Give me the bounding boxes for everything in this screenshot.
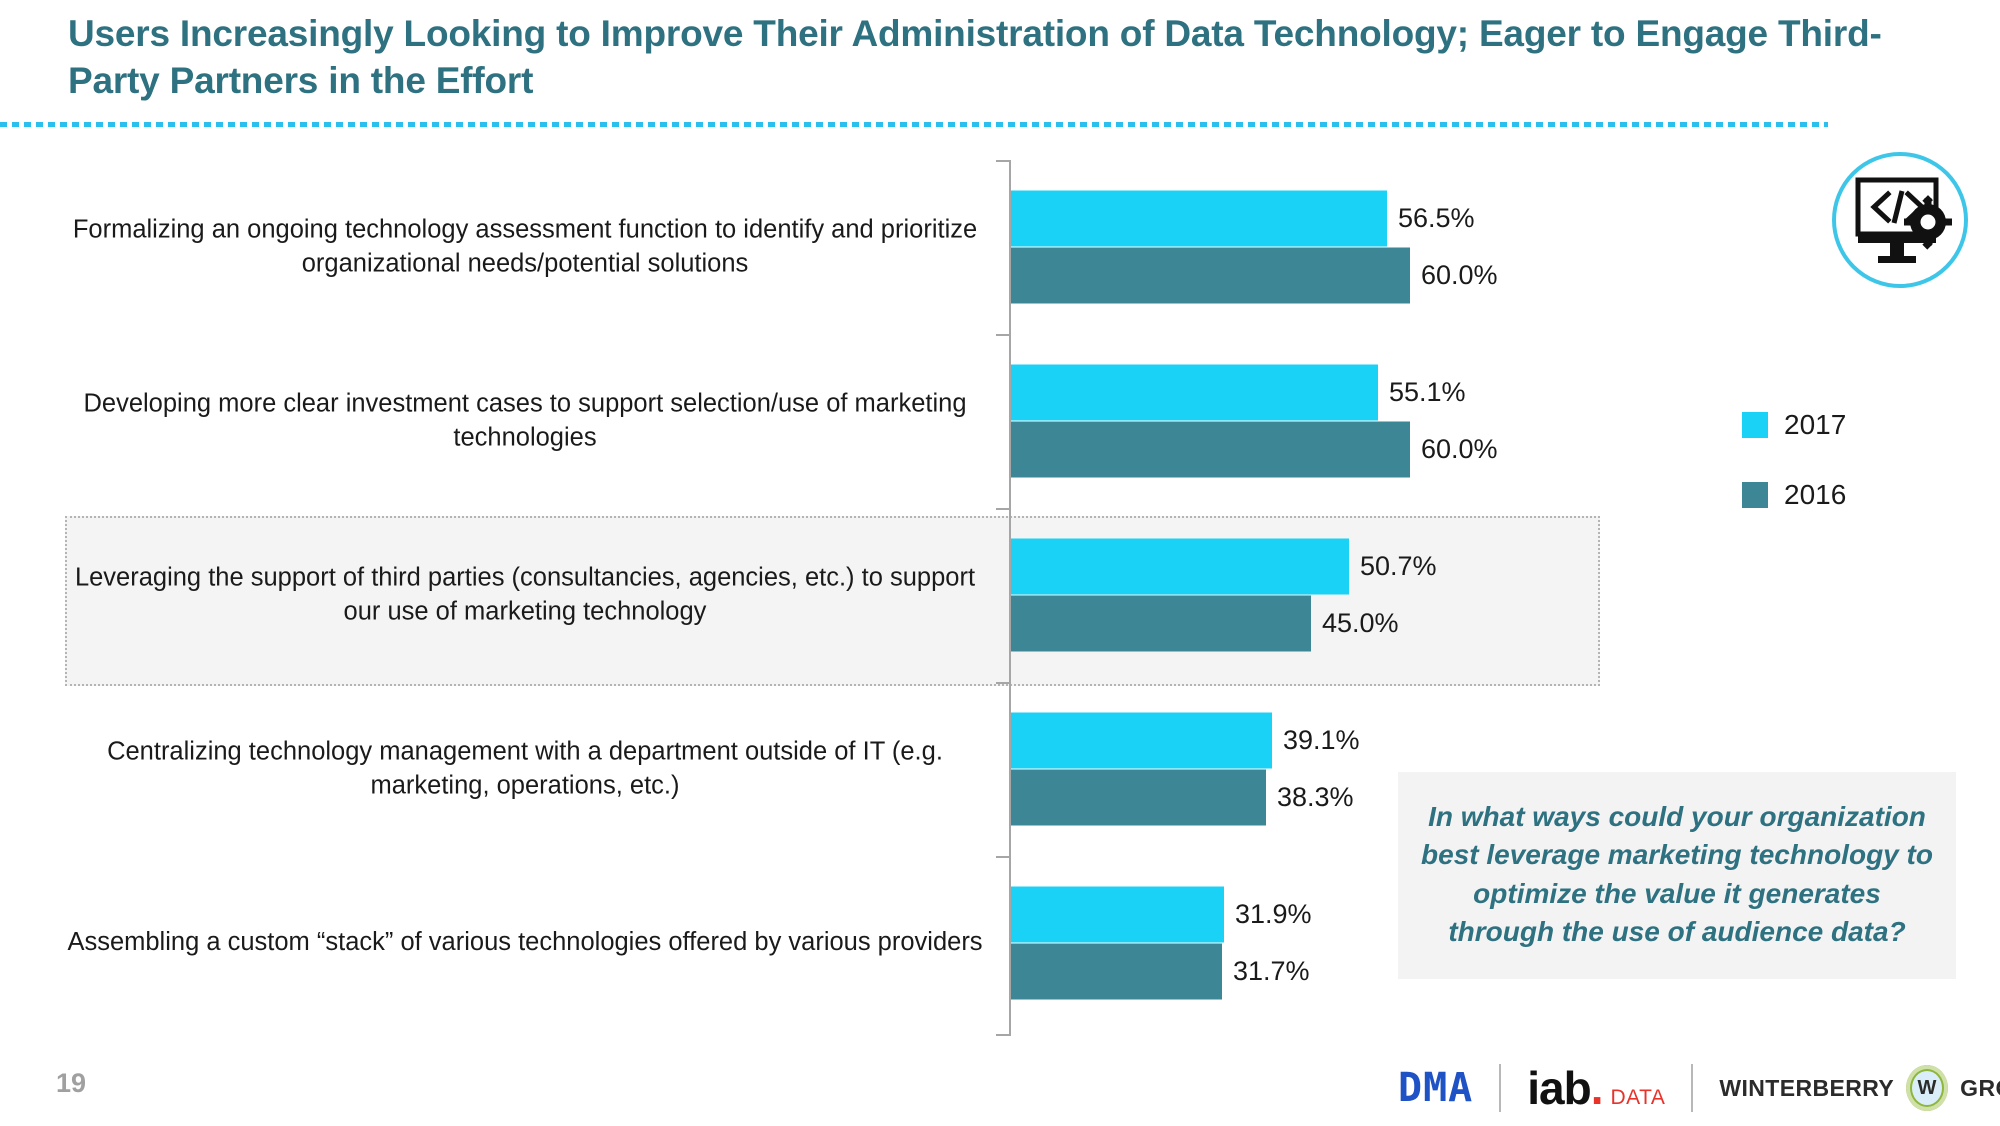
bar-value-2016: 31.7%	[1222, 956, 1310, 987]
logo-divider-1	[1499, 1064, 1501, 1112]
legend-item-2016[interactable]: 2016	[1742, 478, 1846, 512]
chart-legend: 2017 2016	[1742, 408, 1846, 548]
bar-2016[interactable]	[1011, 770, 1266, 826]
legend-label-2017: 2017	[1784, 409, 1846, 441]
bar-line-2017: 56.5%	[1011, 191, 1911, 247]
slide-root: Users Increasingly Looking to Improve Th…	[0, 0, 2000, 1126]
category-label: Assembling a custom “stack” of various t…	[60, 926, 990, 960]
iab-logo-dot: .	[1591, 1065, 1604, 1111]
bar-value-2017: 50.7%	[1349, 551, 1437, 582]
bar-value-2016: 60.0%	[1410, 260, 1498, 291]
monitor-code-gear-glyph	[1854, 176, 1954, 272]
chart-row: Formalizing an ongoing technology assess…	[0, 160, 2000, 334]
bar-2016[interactable]	[1011, 422, 1410, 478]
iab-data-logo: iab . DATA	[1527, 1065, 1665, 1111]
logo-divider-2	[1691, 1064, 1693, 1112]
bar-2016[interactable]	[1011, 944, 1222, 1000]
category-label: Centralizing technology management with …	[60, 735, 990, 802]
monitor-code-gear-icon	[1832, 152, 1968, 288]
bar-value-2017: 39.1%	[1272, 725, 1360, 756]
page-number: 19	[56, 1068, 86, 1099]
bar-value-2017: 55.1%	[1378, 377, 1466, 408]
group-text: GROUP	[1960, 1075, 2000, 1102]
legend-item-2017[interactable]: 2017	[1742, 408, 1846, 442]
winterberry-w-letter: W	[1912, 1071, 1942, 1105]
category-label: Formalizing an ongoing technology assess…	[60, 213, 990, 280]
iab-logo-text: iab	[1527, 1065, 1590, 1111]
bar-line-2016: 60.0%	[1011, 248, 1911, 304]
iab-logo-data-text: DATA	[1611, 1086, 1666, 1110]
bar-2017[interactable]	[1011, 539, 1349, 595]
callout-question: In what ways could your organization bes…	[1398, 772, 1956, 979]
page-title: Users Increasingly Looking to Improve Th…	[68, 10, 1948, 105]
winterberry-group-logo: WINTERBERRY W GROUP	[1719, 1065, 2000, 1111]
bar-value-2017: 56.5%	[1387, 203, 1475, 234]
axis-cap-bottom	[996, 1034, 1010, 1036]
category-label: Leveraging the support of third parties …	[60, 561, 990, 628]
bar-2017[interactable]	[1011, 365, 1378, 421]
legend-label-2016: 2016	[1784, 479, 1846, 511]
dma-logo: DMA	[1398, 1068, 1473, 1108]
bar-group: 56.5% 60.0%	[1011, 191, 1911, 304]
bar-value-2016: 38.3%	[1266, 782, 1354, 813]
legend-swatch-2017	[1742, 412, 1768, 438]
footer-logos: DMA iab . DATA WINTERBERRY W GROUP	[1398, 1058, 2000, 1118]
winterberry-text: WINTERBERRY	[1719, 1075, 1894, 1102]
chart-row: Developing more clear investment cases t…	[0, 334, 2000, 508]
bar-2017[interactable]	[1011, 191, 1387, 247]
winterberry-w-mark: W	[1906, 1065, 1948, 1111]
chart-row-highlighted: Leveraging the support of third parties …	[0, 508, 2000, 682]
bar-line-2017: 39.1%	[1011, 713, 1911, 769]
bar-value-2016: 45.0%	[1311, 608, 1399, 639]
bar-group: 50.7% 45.0%	[1011, 539, 1911, 652]
bar-2016[interactable]	[1011, 596, 1311, 652]
title-divider-dotted-rule	[0, 122, 1828, 127]
legend-swatch-2016	[1742, 482, 1768, 508]
bar-value-2017: 31.9%	[1224, 899, 1312, 930]
category-label: Developing more clear investment cases t…	[60, 387, 990, 454]
bar-2016[interactable]	[1011, 248, 1410, 304]
bar-value-2016: 60.0%	[1410, 434, 1498, 465]
bar-2017[interactable]	[1011, 713, 1272, 769]
bar-line-2016: 45.0%	[1011, 596, 1911, 652]
bar-2017[interactable]	[1011, 887, 1224, 943]
